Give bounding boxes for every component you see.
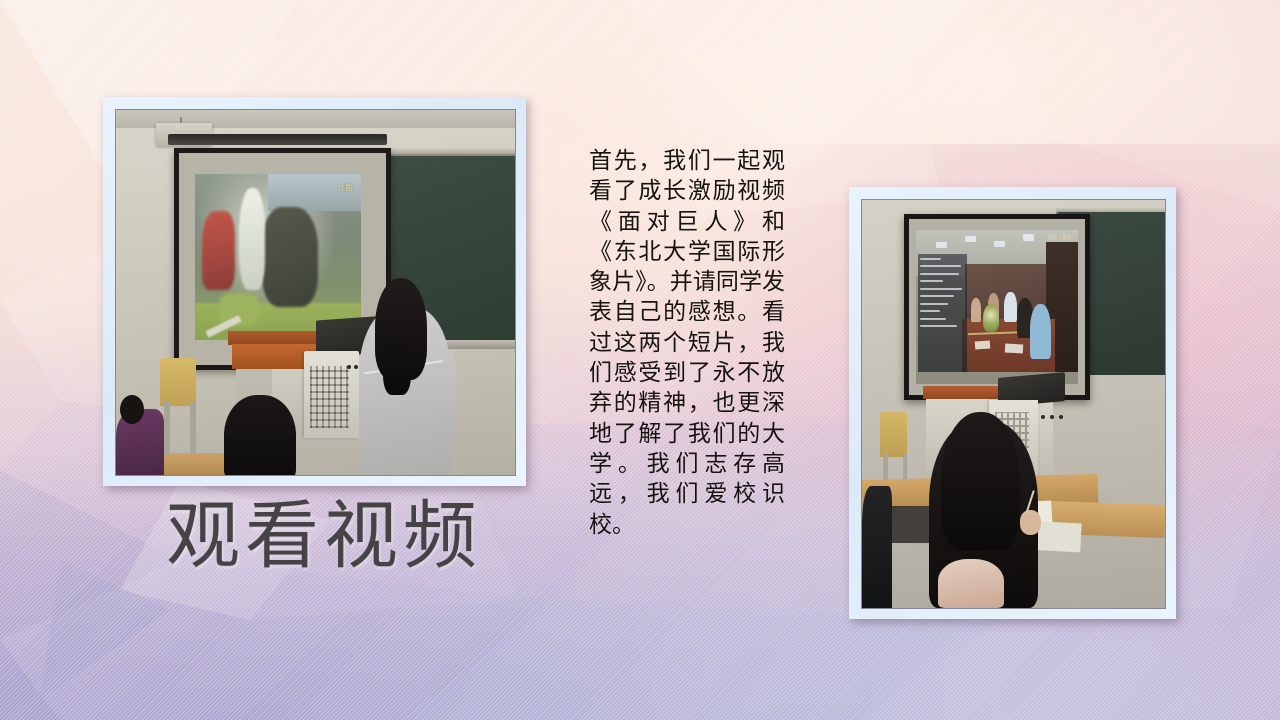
- chair-leg: [190, 402, 196, 453]
- seated-person-head: [120, 395, 144, 424]
- video-timestamp: 00:00: [1048, 234, 1072, 242]
- video-player-dark: [262, 207, 318, 306]
- page-title: 观看视频: [166, 496, 482, 578]
- standing-student-hair-lower: [383, 329, 411, 395]
- seated-student-hair: [941, 412, 1020, 551]
- presentation-slide: 优酷: [0, 0, 1280, 720]
- video-attendee: [971, 298, 981, 323]
- rack-vents: [310, 366, 350, 428]
- video-watermark: 优酷: [338, 183, 353, 193]
- projected-video: 优酷: [195, 174, 361, 339]
- standing-student-arm: [441, 351, 457, 446]
- photo-inner-left: 优酷: [115, 109, 516, 476]
- video-text-lines: [920, 258, 964, 366]
- screen-housing: [168, 134, 387, 145]
- video-ceiling-light: [1023, 234, 1034, 240]
- classroom-photo-right: 00:00: [862, 200, 1165, 608]
- classroom-photo-left: 优酷: [116, 110, 515, 475]
- video-attendee-front: [1030, 304, 1051, 360]
- video-player-light: [239, 188, 266, 290]
- video-ceiling-light: [965, 236, 976, 242]
- seated-student: [224, 395, 296, 475]
- student-hand: [1020, 510, 1041, 534]
- rack-knobs: [1041, 406, 1077, 414]
- video-flower-arrangement: [983, 304, 999, 332]
- photo-frame-right: 00:00: [849, 187, 1176, 619]
- photo-inner-right: 00:00: [861, 199, 1166, 609]
- backpack: [938, 559, 1005, 608]
- photo-frame-left: 优酷: [103, 97, 526, 486]
- video-player-red: [202, 211, 235, 290]
- video-attendee: [1004, 292, 1017, 323]
- video-ceiling-light: [936, 242, 947, 248]
- video-paper: [1005, 344, 1023, 354]
- video-ceiling-light: [994, 241, 1005, 247]
- projected-video: 00:00: [916, 230, 1078, 384]
- chair-leg: [164, 402, 170, 453]
- slide-body-text: 首先，我们一起观看了成长激励视频《面对巨人》和《东北大学国际形象片》。并请同学发…: [589, 146, 785, 540]
- video-paper: [974, 340, 989, 349]
- classroom-chair: [880, 412, 907, 457]
- seated-person-left: [862, 486, 892, 608]
- classroom-chair: [160, 358, 196, 405]
